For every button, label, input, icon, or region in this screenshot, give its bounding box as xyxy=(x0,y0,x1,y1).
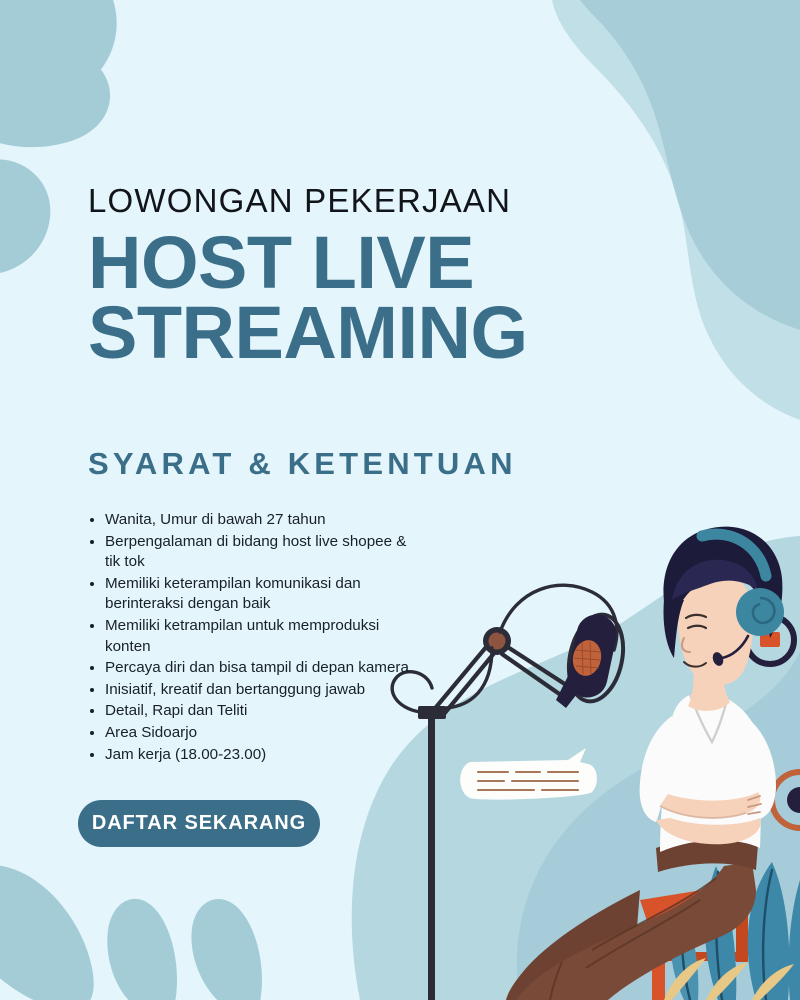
requirements-list: Wanita, Umur di bawah 27 tahun Berpengal… xyxy=(88,510,418,766)
list-item: Jam kerja (18.00-23.00) xyxy=(88,745,418,766)
list-item: Memiliki keterampilan komunikasi dan ber… xyxy=(88,574,418,615)
poster-content: LOWONGAN PEKERJAAN HOST LIVE STREAMING S… xyxy=(0,0,800,1000)
list-item: Memiliki ketrampilan untuk memproduksi k… xyxy=(88,616,418,657)
list-item: Percaya diri dan bisa tampil di depan ka… xyxy=(88,658,418,679)
list-item: Berpengalaman di bidang host live shopee… xyxy=(88,532,418,573)
list-item: Inisiatif, kreatif dan bertanggung jawab xyxy=(88,680,418,701)
list-item: Area Sidoarjo xyxy=(88,723,418,744)
eyebrow-label: LOWONGAN PEKERJAAN xyxy=(88,182,511,220)
page-title: HOST LIVE STREAMING xyxy=(88,228,528,368)
list-item: Wanita, Umur di bawah 27 tahun xyxy=(88,510,418,531)
register-now-button[interactable]: DAFTAR SEKARANG xyxy=(78,800,320,847)
job-vacancy-poster: LOWONGAN PEKERJAAN HOST LIVE STREAMING S… xyxy=(0,0,800,1000)
list-item: Detail, Rapi dan Teliti xyxy=(88,701,418,722)
requirements-heading: SYARAT & KETENTUAN xyxy=(88,446,517,482)
